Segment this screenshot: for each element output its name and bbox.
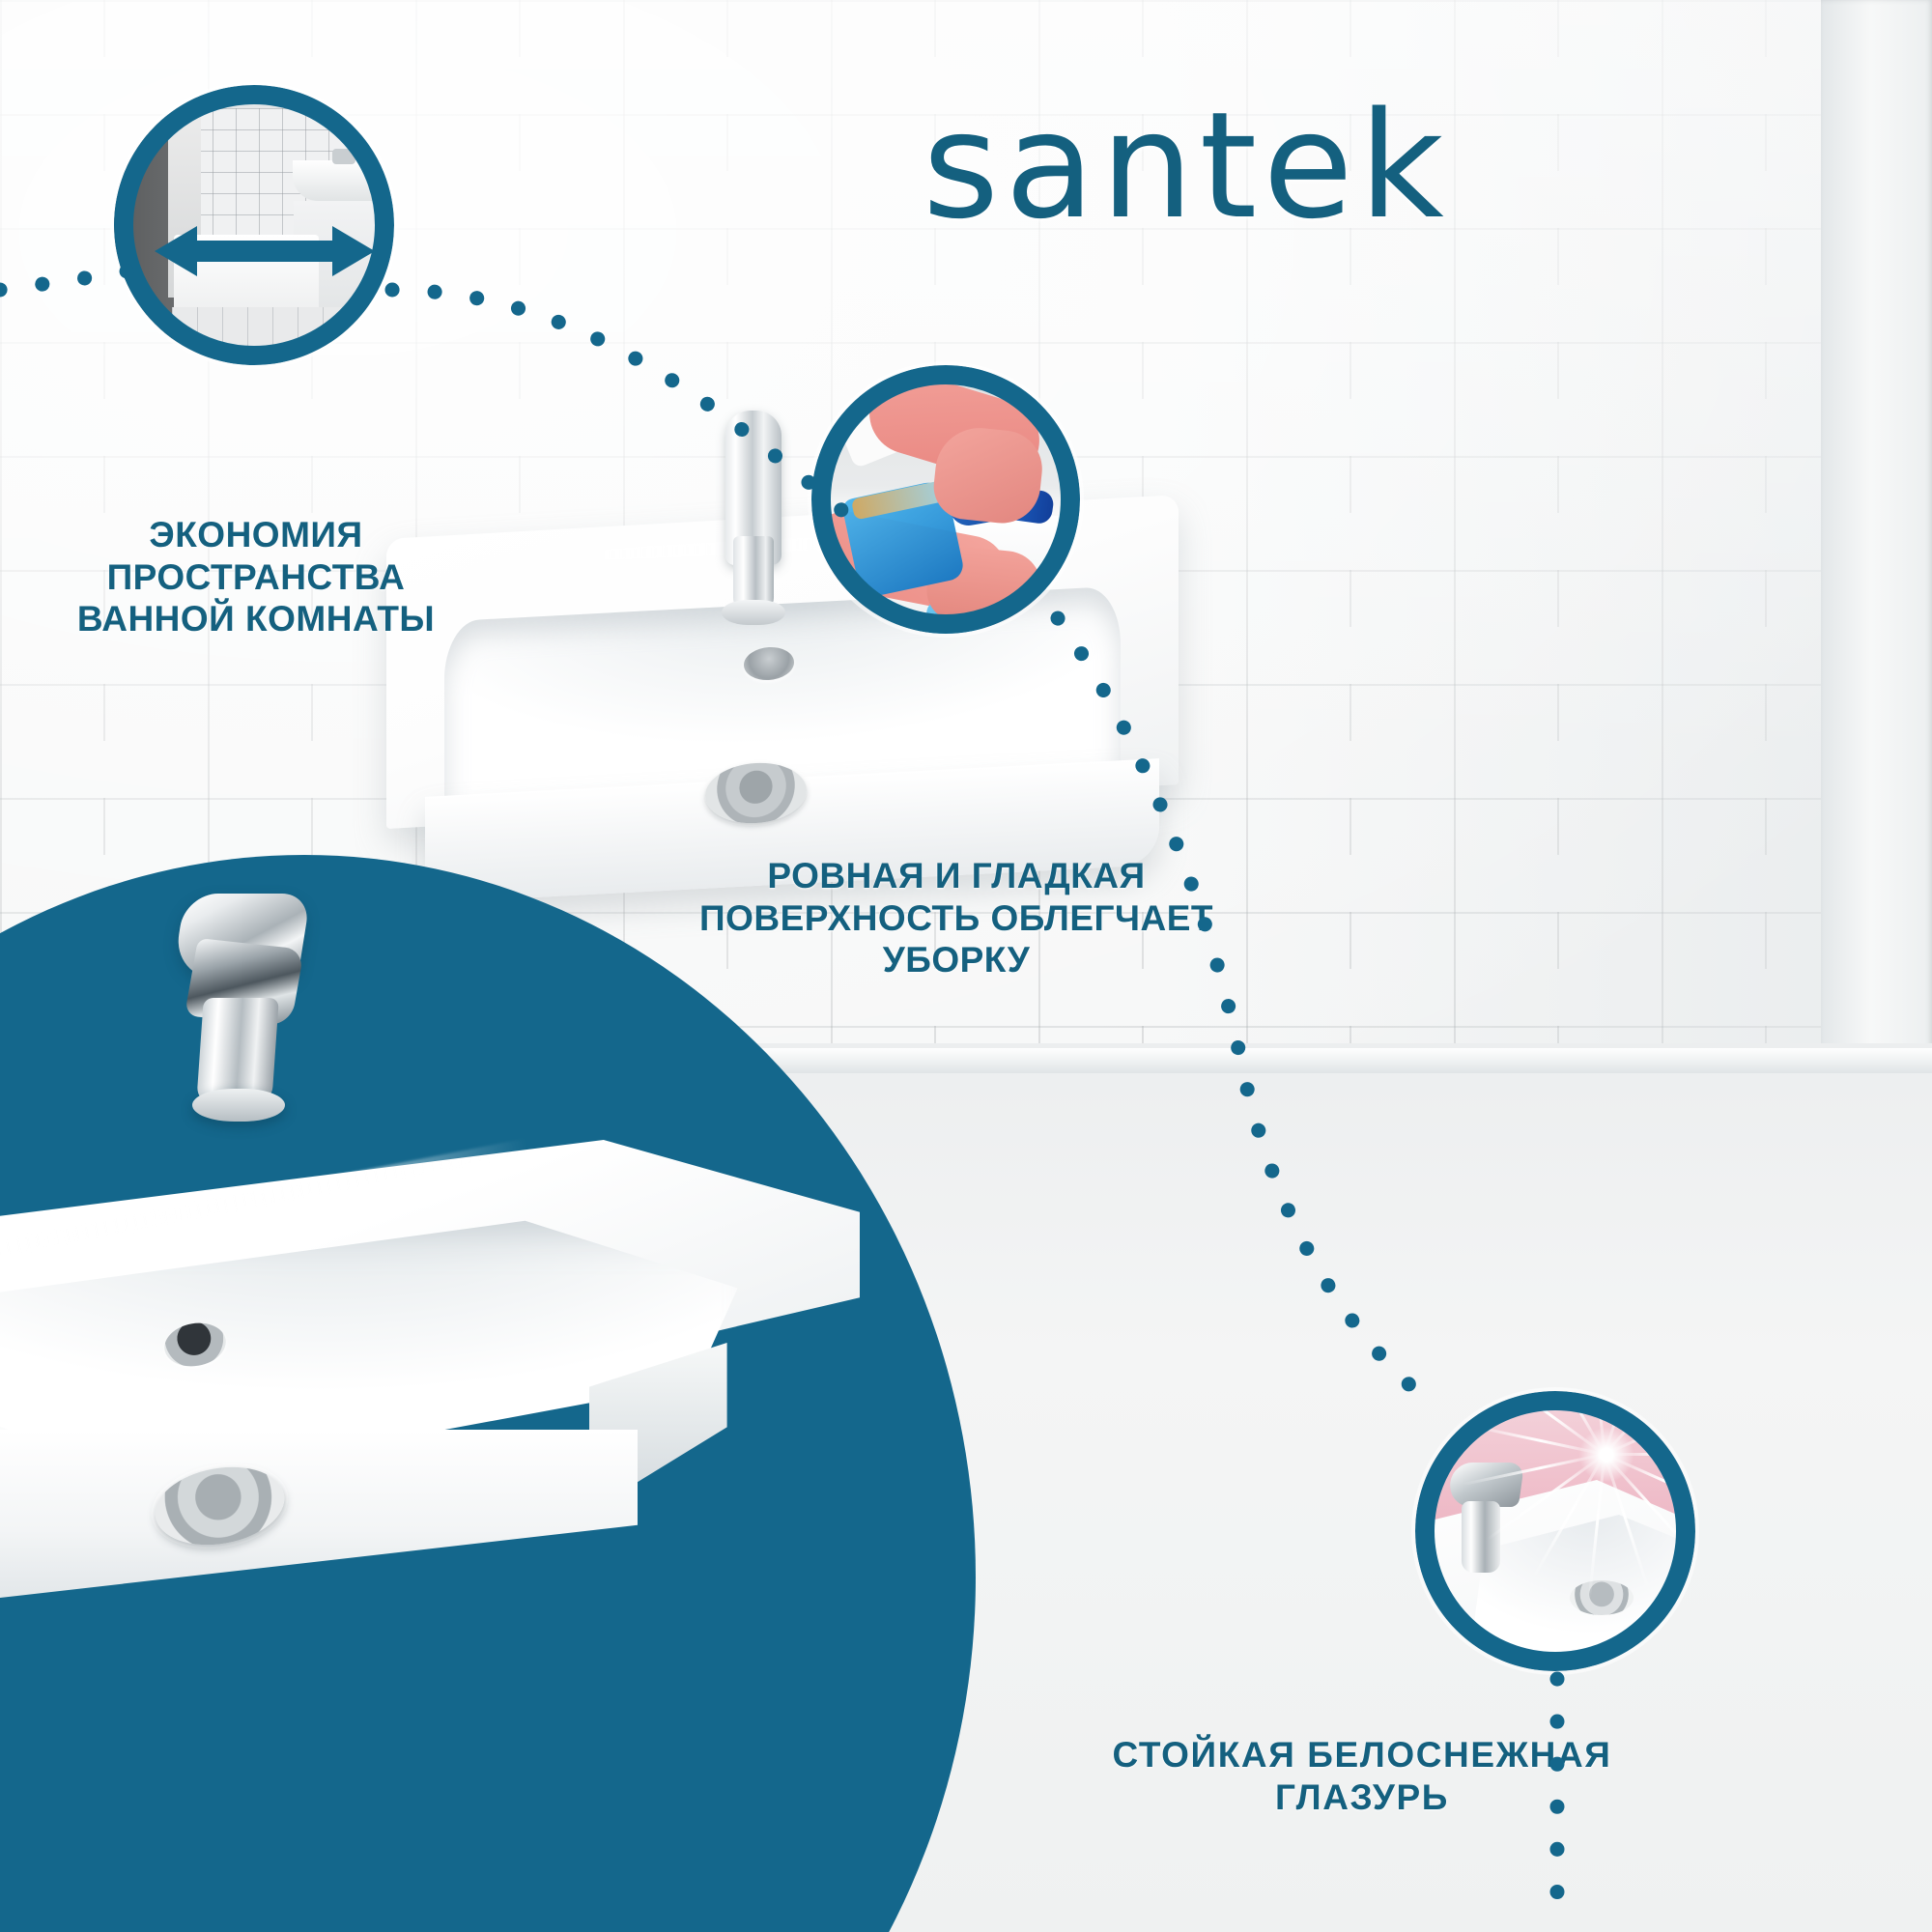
hero-basin-front bbox=[0, 1430, 638, 1613]
caption-line: СТОЙКАЯ БЕЛОСНЕЖНАЯ bbox=[1024, 1734, 1700, 1776]
feature-circle-space[interactable] bbox=[114, 85, 394, 365]
hero-chrome-faucet bbox=[169, 894, 314, 1125]
glaze-faucet-column bbox=[1462, 1501, 1500, 1573]
right-corner-wall bbox=[1821, 0, 1932, 1067]
cleaning-photo bbox=[811, 365, 1080, 634]
bathroom-interior-photo bbox=[114, 85, 394, 365]
caption-line: УБОРКУ bbox=[667, 939, 1246, 981]
glaze-drain-icon bbox=[1570, 1580, 1634, 1615]
caption-line: ГЛАЗУРЬ bbox=[1024, 1776, 1700, 1819]
caption-line: ПОВЕРХНОСТЬ ОБЛЕГЧАЕТ bbox=[667, 897, 1246, 940]
caption-easy-cleaning: РОВНАЯ И ГЛАДКАЯ ПОВЕРХНОСТЬ ОБЛЕГЧАЕТ У… bbox=[667, 855, 1246, 981]
glaze-photo bbox=[1415, 1391, 1695, 1671]
hero-washbasin bbox=[0, 1140, 898, 1758]
hero-faucet-base bbox=[192, 1089, 285, 1122]
double-arrow-icon bbox=[153, 220, 377, 282]
brand-logo: santek bbox=[923, 93, 1450, 240]
infographic-canvas: santek bbox=[0, 0, 1932, 1932]
caption-space-saving: ЭКОНОМИЯ ПРОСТРАНСТВА ВАННОЙ КОМНАТЫ bbox=[34, 514, 478, 640]
caption-line: РОВНАЯ И ГЛАДКАЯ bbox=[667, 855, 1246, 897]
sparkle-icon bbox=[1605, 1453, 1608, 1457]
caption-line: ВАННОЙ КОМНАТЫ bbox=[34, 598, 478, 640]
faucet-base bbox=[722, 600, 785, 625]
chrome-faucet bbox=[720, 411, 787, 623]
caption-line: ПРОСТРАНСТВА bbox=[34, 556, 478, 599]
feature-circle-glaze[interactable] bbox=[1415, 1391, 1695, 1671]
bathroom-tap-icon bbox=[332, 149, 355, 164]
feature-circle-cleaning[interactable] bbox=[811, 365, 1080, 634]
bathroom-sink bbox=[293, 160, 394, 201]
bathroom-floor-tiles bbox=[172, 307, 394, 365]
caption-durable-glaze: СТОЙКАЯ БЕЛОСНЕЖНАЯ ГЛАЗУРЬ bbox=[1024, 1734, 1700, 1818]
caption-line: ЭКОНОМИЯ bbox=[34, 514, 478, 556]
